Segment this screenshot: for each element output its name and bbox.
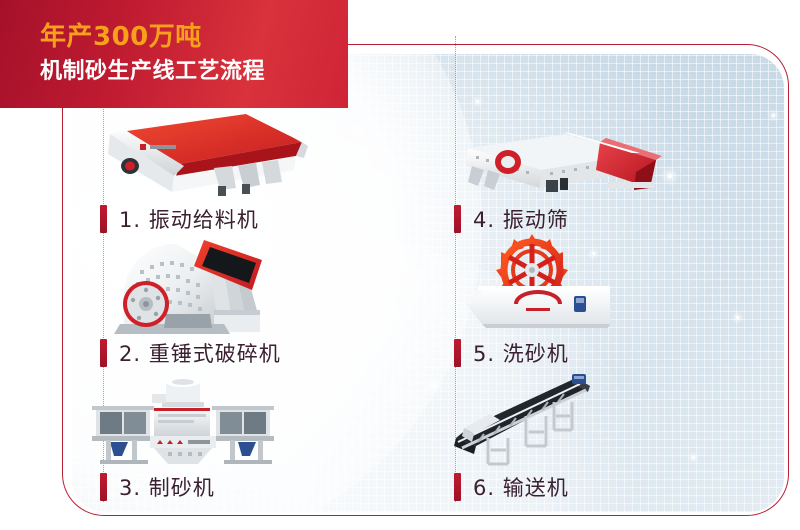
hammer-crusher-icon — [78, 240, 378, 332]
step-5-marker — [454, 339, 461, 367]
step-3-marker — [100, 473, 107, 501]
infographic-root: 1. 振动给料机 — [0, 0, 800, 530]
step-3-label: 3. 制砂机 — [119, 472, 215, 502]
step-3-caption: 3. 制砂机 — [78, 470, 408, 504]
vibrating-screen-icon — [432, 106, 732, 198]
step-5-label: 5. 洗砂机 — [473, 338, 569, 368]
step-5-caption: 5. 洗砂机 — [432, 336, 762, 370]
step-6-caption: 6. 输送机 — [432, 470, 762, 504]
vibrating-feeder-icon — [78, 106, 378, 198]
step-6-label: 6. 输送机 — [473, 472, 569, 502]
process-step-5[interactable]: 5. 洗砂机 — [432, 240, 762, 370]
banner-line-1: 年产300万吨 — [40, 21, 348, 54]
process-step-3[interactable]: 3. 制砂机 — [78, 374, 408, 504]
step-2-caption: 2. 重锤式破碎机 — [78, 336, 408, 370]
step-2-marker — [100, 339, 107, 367]
belt-conveyor-icon — [432, 374, 732, 466]
process-column-left: 1. 振动给料机 — [78, 60, 408, 516]
step-4-marker — [454, 205, 461, 233]
step-4-caption: 4. 振动筛 — [432, 202, 762, 236]
process-step-1[interactable]: 1. 振动给料机 — [78, 106, 408, 236]
sand-making-machine-icon — [78, 374, 378, 466]
process-step-6[interactable]: 6. 输送机 — [432, 374, 762, 504]
step-1-caption: 1. 振动给料机 — [78, 202, 408, 236]
process-step-4[interactable]: 4. 振动筛 — [432, 106, 762, 236]
step-1-label: 1. 振动给料机 — [119, 204, 259, 234]
title-banner: 年产300万吨 机制砂生产线工艺流程 — [0, 0, 348, 108]
step-4-label: 4. 振动筛 — [473, 204, 569, 234]
step-2-label: 2. 重锤式破碎机 — [119, 338, 281, 368]
step-1-marker — [100, 205, 107, 233]
step-6-marker — [454, 473, 461, 501]
process-column-right: 4. 振动筛 — [432, 60, 762, 516]
sand-washer-icon — [432, 240, 732, 332]
banner-line-2: 机制砂生产线工艺流程 — [40, 57, 348, 87]
process-step-2[interactable]: 2. 重锤式破碎机 — [78, 240, 408, 370]
